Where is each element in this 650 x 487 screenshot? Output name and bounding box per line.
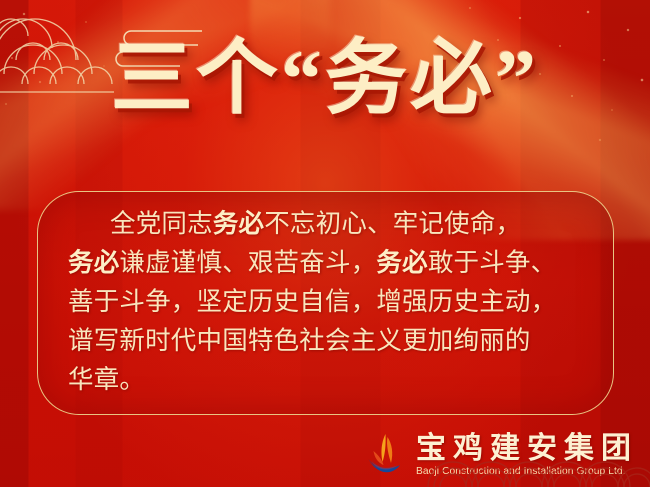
quote-line: 务必谦虚谨慎、艰苦奋斗，务必敢于斗争、 xyxy=(68,244,591,283)
poster-canvas: 三个“务必” 全党同志务必不忘初心、牢记使命，务必谦虚谨慎、艰苦奋斗，务必敢于斗… xyxy=(0,0,650,487)
quote-emphasis: 务必 xyxy=(213,210,264,238)
sailboat-icon xyxy=(362,431,408,479)
quote-segment: 敢于斗争、 xyxy=(428,249,557,277)
quote-line: 华章。 xyxy=(68,361,591,400)
quote-segment: 不忘初心、牢记使命， xyxy=(264,210,521,238)
quote-emphasis: 务必 xyxy=(376,249,427,277)
quote-segment: 华章。 xyxy=(68,366,145,394)
quote-line: 全党同志务必不忘初心、牢记使命， xyxy=(68,205,591,244)
quote-line: 善于斗争，坚定历史自信，增强历史主动， xyxy=(68,283,591,322)
quote-segment: 善于斗争，坚定历史自信，增强历史主动， xyxy=(68,288,556,316)
quote-segment: 谱写新时代中国特色社会主义更加绚丽的 xyxy=(68,327,531,355)
quote-line: 谱写新时代中国特色社会主义更加绚丽的 xyxy=(68,322,591,361)
page-title: 三个“务必” xyxy=(111,38,539,120)
poster-title-container: 三个“务必” xyxy=(0,38,650,120)
quote-box: 全党同志务必不忘初心、牢记使命，务必谦虚谨慎、艰苦奋斗，务必敢于斗争、善于斗争，… xyxy=(37,191,614,415)
quote-emphasis: 务必 xyxy=(68,249,119,277)
quote-segment: 谦虚谨慎、艰苦奋斗， xyxy=(119,249,376,277)
quote-segment: 全党同志 xyxy=(110,210,213,238)
chinese-cloud-pattern-bottom-right-icon xyxy=(410,439,650,487)
quote-text: 全党同志务必不忘初心、牢记使命，务必谦虚谨慎、艰苦奋斗，务必敢于斗争、善于斗争，… xyxy=(68,205,591,400)
